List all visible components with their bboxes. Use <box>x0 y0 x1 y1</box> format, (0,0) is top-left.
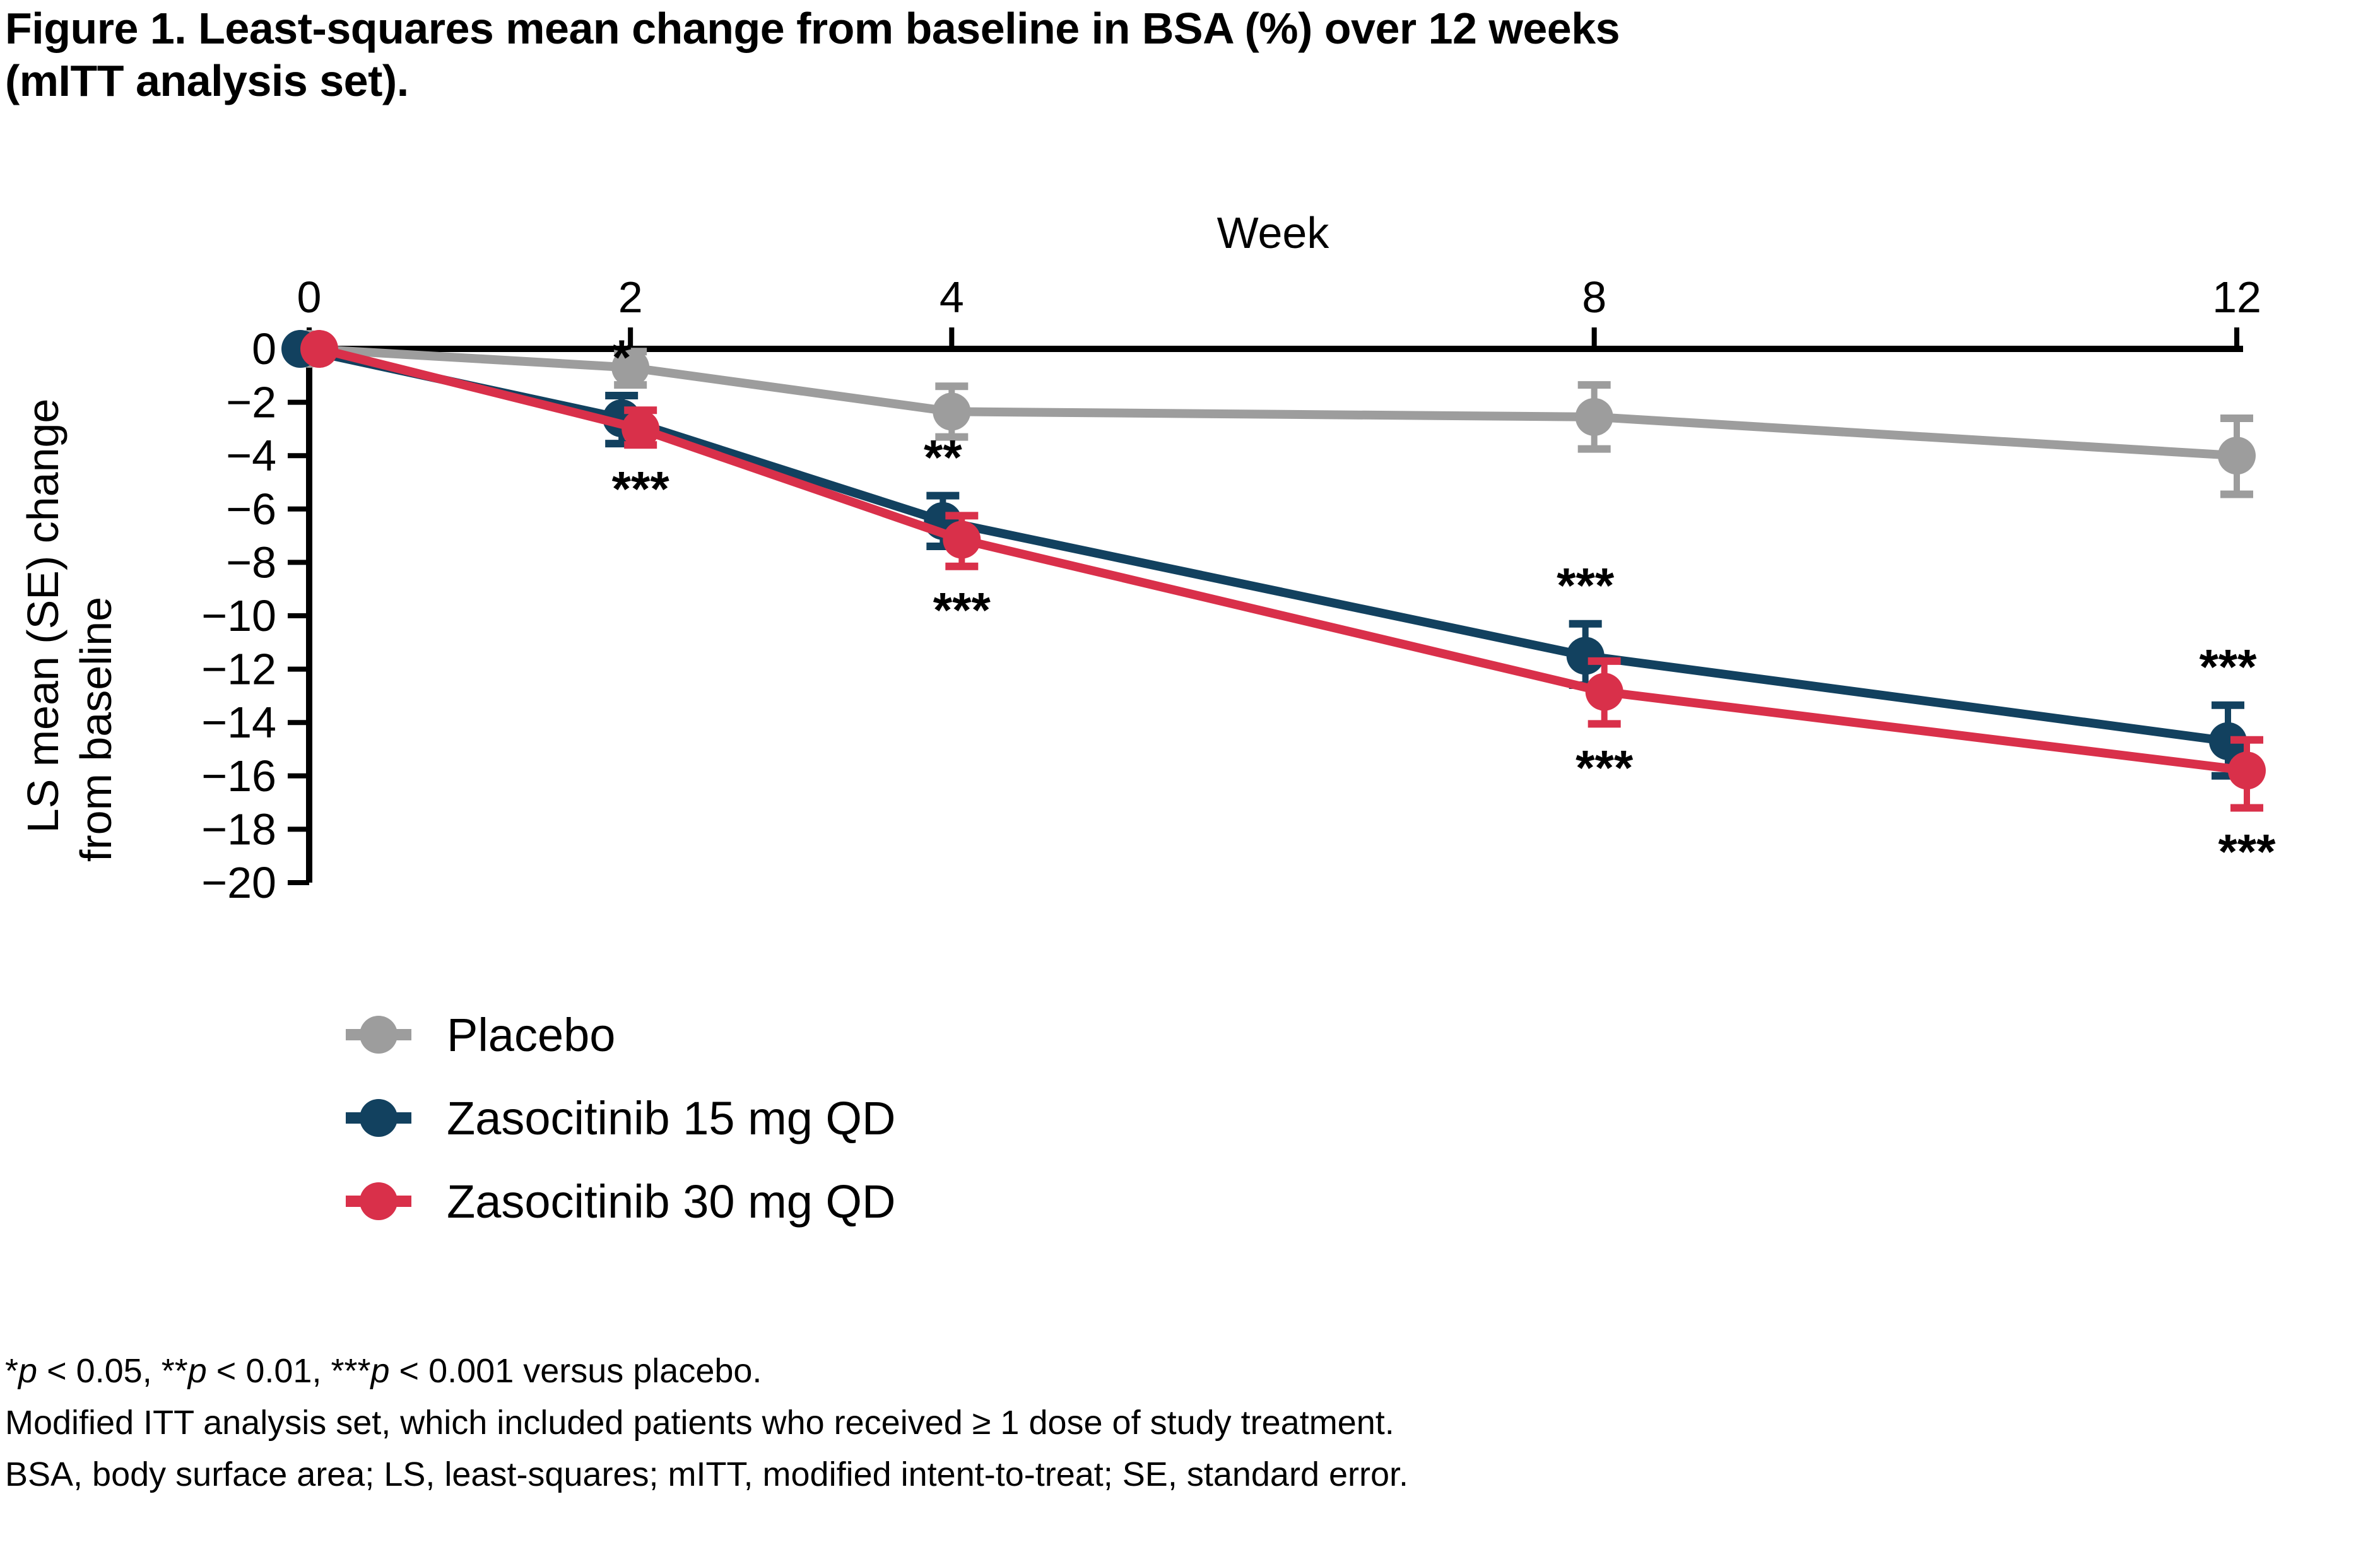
y-axis-tick-label: −10 <box>201 591 276 640</box>
x-axis-tick-label: 12 <box>2212 273 2261 322</box>
series-line <box>300 349 2228 741</box>
legend-marker <box>360 1016 398 1054</box>
footnote-p-1: p <box>18 1352 37 1390</box>
significance-marker: *** <box>1576 739 1634 795</box>
y-axis-tick-label: 0 <box>252 324 276 373</box>
legend-item-zasocitinib-30-mg-qd: Zasocitinib 30 mg QD <box>346 1175 896 1228</box>
data-point-marker <box>1576 398 1613 436</box>
legend-label: Zasocitinib 15 mg QD <box>447 1092 896 1144</box>
series-zasocitinib-30-mg-qd <box>300 330 2266 808</box>
footnote-significance: *p < 0.05, **p < 0.01, ***p < 0.001 vers… <box>5 1345 2377 1397</box>
y-axis-tick-label: −8 <box>226 538 276 587</box>
x-axis-title: Week <box>1217 208 1330 257</box>
y-axis-title-line-2: from baseline <box>71 597 121 862</box>
data-point-marker <box>1567 637 1605 674</box>
legend-label: Placebo <box>447 1009 615 1061</box>
y-axis-tick-label: −2 <box>226 378 276 427</box>
data-point-marker <box>300 330 338 368</box>
footnotes: *p < 0.05, **p < 0.01, ***p < 0.001 vers… <box>5 1345 2377 1500</box>
significance-marker: *** <box>2199 639 2257 695</box>
data-point-marker <box>2228 751 2266 789</box>
legend-item-zasocitinib-15-mg-qd: Zasocitinib 15 mg QD <box>346 1092 896 1144</box>
y-axis-tick-label: −16 <box>201 751 276 801</box>
y-axis-tick-label: −20 <box>201 858 276 907</box>
data-point-marker <box>1586 673 1623 711</box>
footnote-abbreviations: BSA, body surface area; LS, least-square… <box>5 1449 2377 1500</box>
footnote-p-3: p <box>371 1352 390 1390</box>
x-axis-tick-label: 4 <box>940 273 964 322</box>
figure-page: Figure 1. Least-squares mean change from… <box>0 0 2380 1564</box>
x-axis-tick-label: 8 <box>1582 273 1606 322</box>
y-axis-tick-label: −12 <box>201 645 276 694</box>
significance-marker: *** <box>933 582 991 638</box>
series-zasocitinib-15-mg-qd <box>281 330 2247 776</box>
data-point-marker <box>622 410 659 448</box>
figure-title: Figure 1. Least-squares mean change from… <box>5 3 2377 107</box>
footnote-mitt: Modified ITT analysis set, which include… <box>5 1397 2377 1449</box>
data-point-marker <box>943 520 981 558</box>
significance-marker: *** <box>1557 558 1615 613</box>
legend-marker <box>360 1099 398 1137</box>
legend-item-placebo: Placebo <box>346 1009 615 1061</box>
significance-marker: *** <box>2218 824 2276 879</box>
series-line <box>309 349 2237 456</box>
y-axis-tick-label: −4 <box>226 431 276 480</box>
footnote-mid-2: < 0.01, *** <box>207 1352 371 1390</box>
significance-marker: *** <box>612 461 670 516</box>
significance-marker: ** <box>924 430 962 485</box>
footnote-p-2: p <box>188 1352 207 1390</box>
footnote-end: < 0.001 versus placebo. <box>390 1352 762 1390</box>
x-axis-tick-label: 2 <box>618 273 643 322</box>
figure-title-line-2: (mITT analysis set). <box>5 55 2377 107</box>
footnote-significance-pre: * <box>5 1352 18 1390</box>
significance-marker: * <box>612 329 632 385</box>
data-point-marker <box>2218 437 2256 474</box>
x-axis-tick-label: 0 <box>297 273 322 322</box>
data-point-marker <box>933 392 970 430</box>
legend-marker <box>360 1182 398 1220</box>
footnote-mid-1: < 0.05, ** <box>37 1352 188 1390</box>
figure-title-line-1: Figure 1. Least-squares mean change from… <box>5 4 1620 53</box>
y-axis-tick-label: −6 <box>226 485 276 534</box>
y-axis-tick-label: −14 <box>201 698 276 747</box>
chart-svg: 024812Week0−2−4−6−8−10−12−14−16−18−20LS … <box>0 158 2380 1312</box>
line-chart: 024812Week0−2−4−6−8−10−12−14−16−18−20LS … <box>0 158 2380 1312</box>
legend-label: Zasocitinib 30 mg QD <box>447 1175 896 1228</box>
y-axis-title-line-1: LS mean (SE) change <box>18 399 68 833</box>
y-axis-tick-label: −18 <box>201 804 276 854</box>
